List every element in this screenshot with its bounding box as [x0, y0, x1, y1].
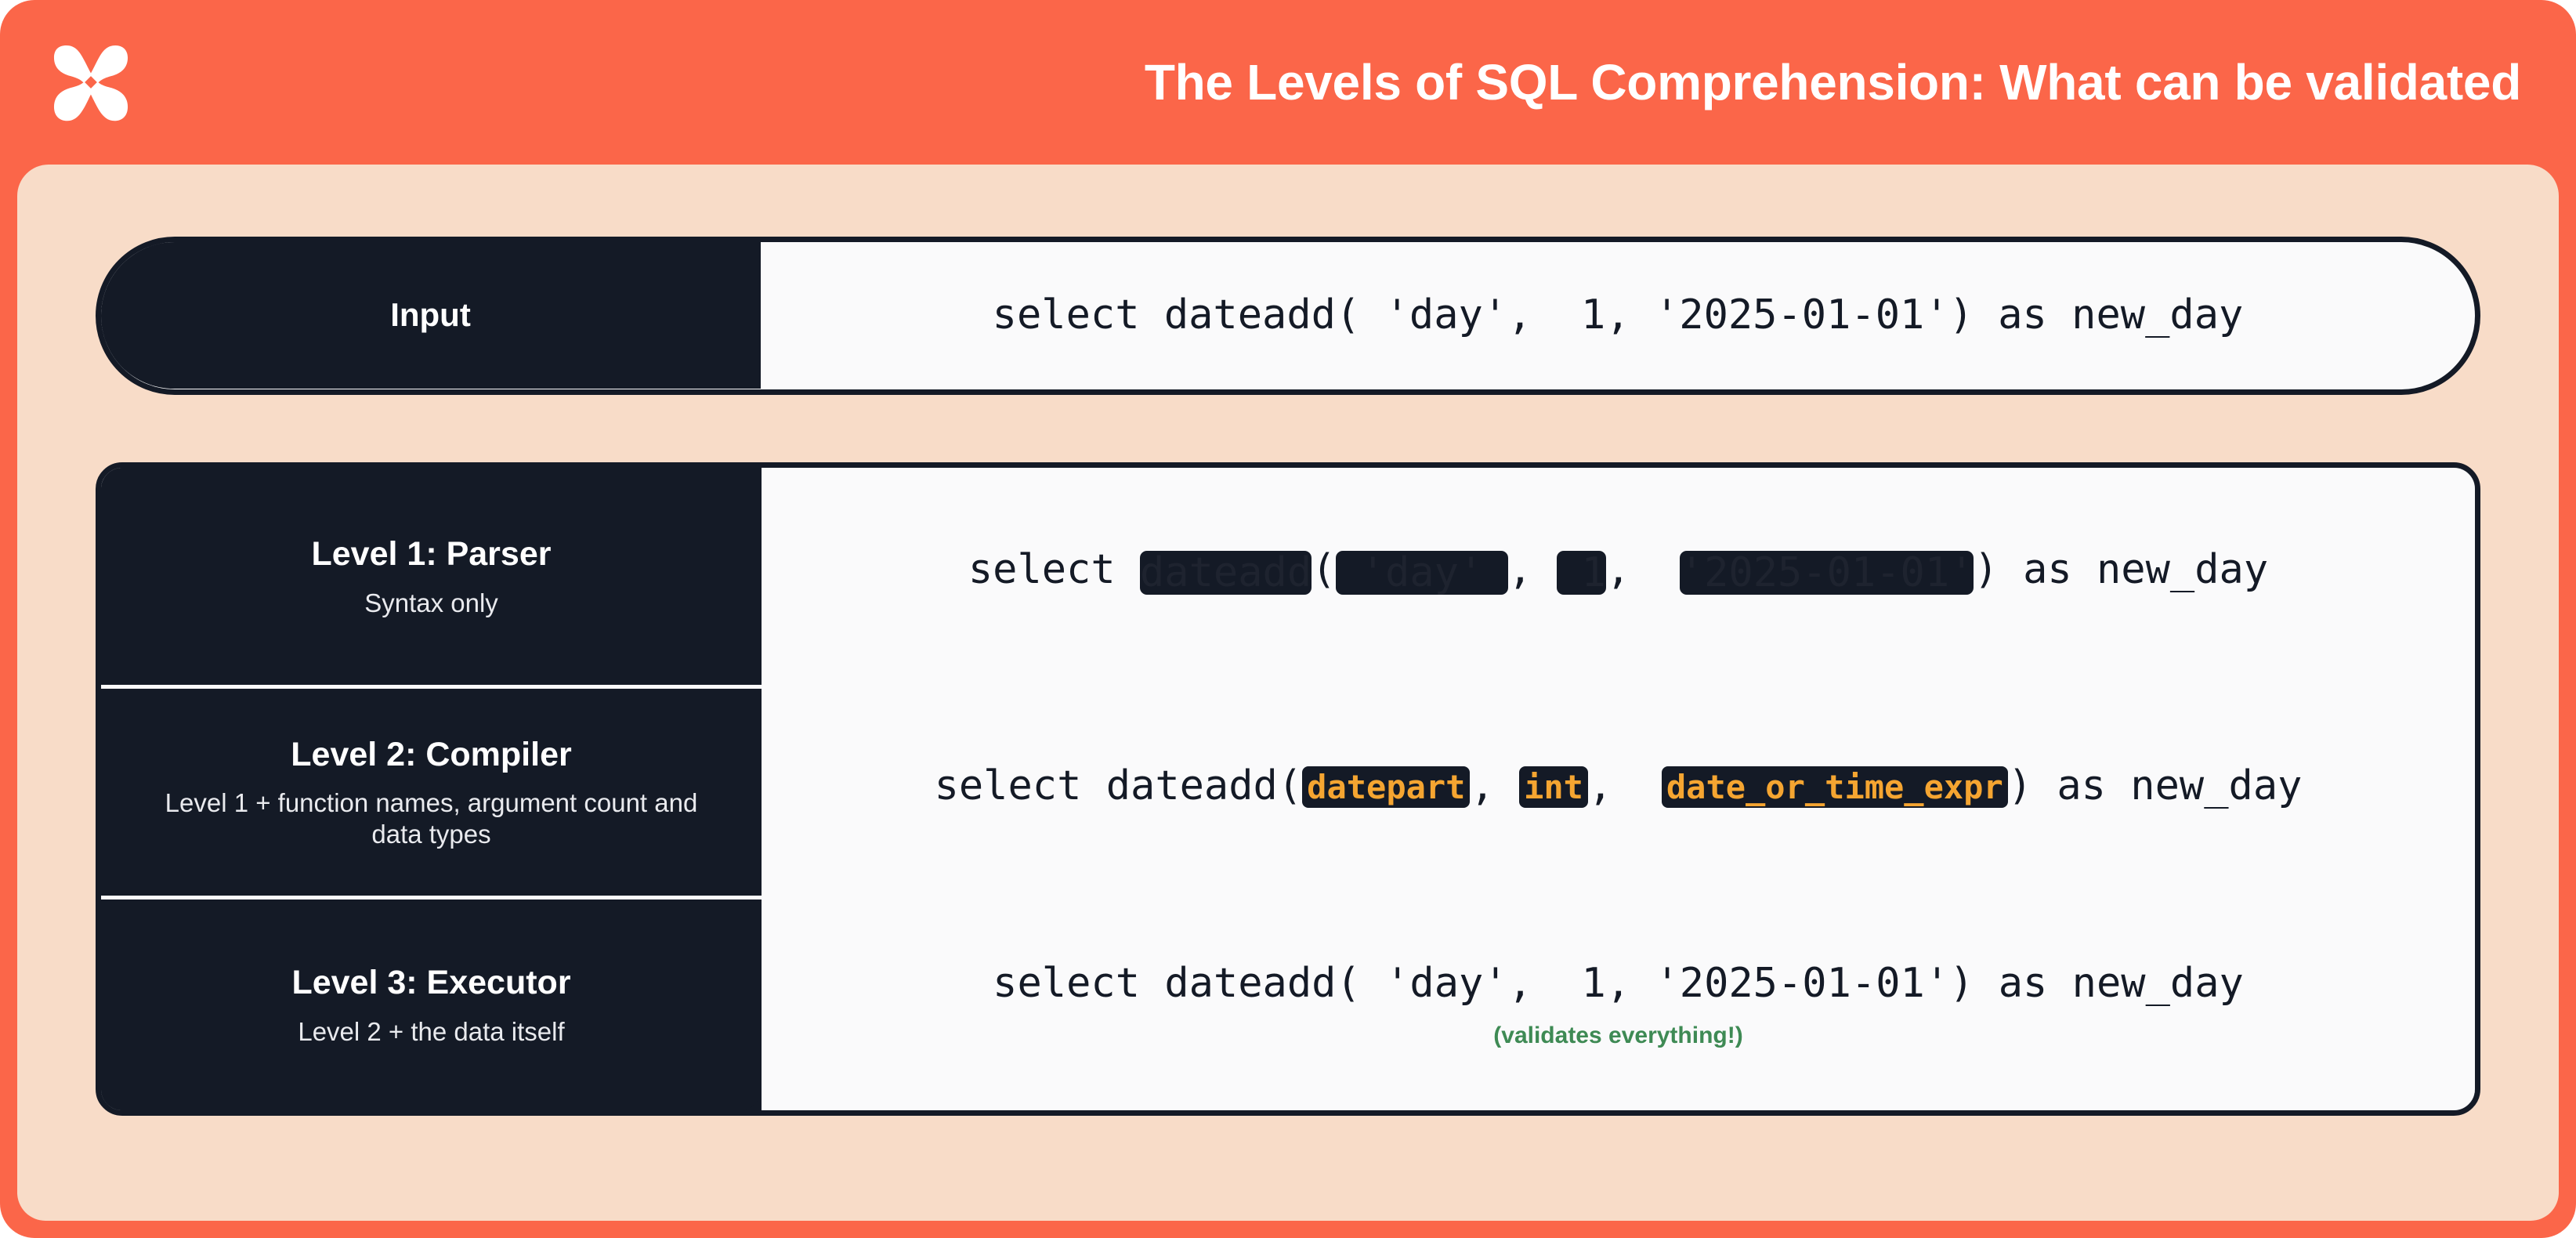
- level-row: Level 3: Executor Level 2 + the data its…: [101, 900, 2475, 1110]
- poster-root: The Levels of SQL Comprehension: What ca…: [0, 0, 2576, 1238]
- redacted-token: '2025-01-01': [1680, 551, 1974, 595]
- input-card: Input select dateadd( 'day', 1, '2025-01…: [96, 237, 2480, 395]
- level-label-cell: Level 3: Executor Level 2 + the data its…: [101, 900, 762, 1110]
- level-code-cell: select dateadd( 'day', 1, '2025-01-01') …: [762, 900, 2475, 1110]
- page-title: The Levels of SQL Comprehension: What ca…: [1145, 53, 2529, 111]
- content-panel: Input select dateadd( 'day', 1, '2025-01…: [17, 165, 2559, 1221]
- level-code-cell: select dateadd( 'day' , 1, '2025-01-01')…: [762, 468, 2475, 685]
- level-code-cell: select dateadd(datepart, int, date_or_ti…: [762, 689, 2475, 896]
- code-text: select dateadd(: [935, 762, 1303, 809]
- level-label-cell: Level 1: Parser Syntax only: [101, 468, 762, 685]
- level-row: Level 1: Parser Syntax only select datea…: [101, 468, 2475, 689]
- code-text: ,: [1470, 762, 1519, 809]
- input-label-cell: Input: [100, 241, 761, 389]
- code-text: ,: [1588, 762, 1662, 809]
- level-row: Level 2: Compiler Level 1 + function nam…: [101, 689, 2475, 900]
- type-token-badge: date_or_time_expr: [1662, 766, 2008, 808]
- code-text: (: [1312, 546, 1336, 593]
- level-note: (validates everything!): [762, 1023, 2475, 1049]
- code-text: ) as new_day: [1974, 546, 2268, 593]
- level-subtitle: Syntax only: [364, 588, 498, 619]
- code-text: ,: [1606, 546, 1680, 593]
- redacted-token: dateadd: [1140, 551, 1312, 595]
- level-subtitle: Level 1 + function names, argument count…: [157, 787, 706, 851]
- code-text: ) as new_day: [2008, 762, 2303, 809]
- redacted-token: 'day': [1336, 551, 1507, 595]
- redacted-token: 1: [1557, 551, 1606, 595]
- input-sql-code: select dateadd( 'day', 1, '2025-01-01') …: [993, 292, 2244, 339]
- level-subtitle: Level 2 + the data itself: [298, 1016, 564, 1048]
- code-text: select: [968, 546, 1140, 593]
- level-sql-code: select dateadd(datepart, int, date_or_ti…: [935, 763, 2303, 810]
- header-bar: The Levels of SQL Comprehension: What ca…: [0, 0, 2576, 165]
- level-title: Level 3: Executor: [291, 962, 570, 1003]
- level-title: Level 1: Parser: [312, 534, 552, 574]
- levels-card: Level 1: Parser Syntax only select datea…: [96, 462, 2480, 1116]
- type-token-badge: int: [1519, 766, 1588, 808]
- level-sql-code: select dateadd( 'day' , 1, '2025-01-01')…: [968, 547, 2268, 595]
- butterfly-x-logo-icon: [47, 38, 135, 126]
- level-label-cell: Level 2: Compiler Level 1 + function nam…: [101, 689, 762, 896]
- code-text: select dateadd( 'day', 1, '2025-01-01') …: [993, 960, 2244, 1007]
- level-sql-code: select dateadd( 'day', 1, '2025-01-01') …: [993, 961, 2244, 1008]
- input-label: Input: [390, 296, 471, 334]
- level-title: Level 2: Compiler: [291, 734, 571, 775]
- code-text: ,: [1508, 546, 1558, 593]
- type-token-badge: datepart: [1302, 766, 1470, 808]
- input-code-cell: select dateadd( 'day', 1, '2025-01-01') …: [761, 242, 2475, 389]
